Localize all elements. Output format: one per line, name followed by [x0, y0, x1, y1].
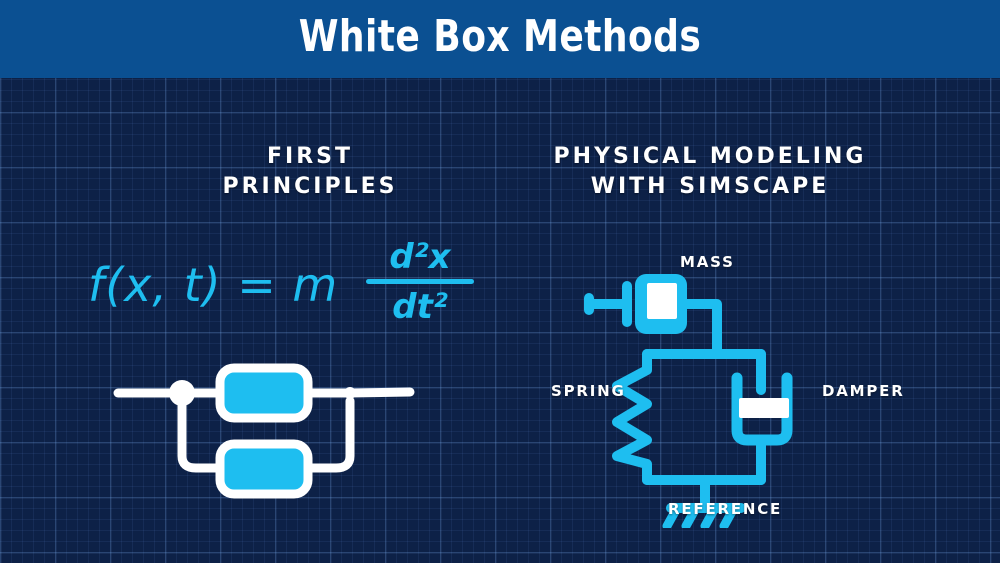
- circuit-node-right: [344, 387, 356, 399]
- mass-block-inner: [647, 283, 677, 319]
- label-spring: SPRING: [551, 382, 626, 400]
- circuit-diagram: [110, 352, 430, 512]
- label-damper: DAMPER: [822, 382, 905, 400]
- label-mass: MASS: [680, 253, 735, 271]
- equation-numerator: d²x: [360, 236, 480, 278]
- circuit-block-bottom: [220, 444, 308, 494]
- damper-piston: [739, 398, 789, 418]
- column-heading-line-2: PRINCIPLES: [130, 172, 490, 202]
- slide-canvas: White Box Methods FIRST PRINCIPLES PHYSI…: [0, 0, 1000, 563]
- label-reference: REFERENCE: [668, 500, 782, 518]
- slide-header: White Box Methods: [0, 0, 1000, 78]
- column-heading-first-principles: FIRST PRINCIPLES: [130, 142, 490, 202]
- wire-right-lead: [350, 392, 410, 393]
- equation-first-principles: f(x, t) = m d²x dt²: [88, 228, 488, 338]
- column-heading-line-2: WITH SIMSCAPE: [500, 172, 920, 202]
- equation-fraction: d²x dt²: [360, 236, 480, 328]
- column-heading-physical-modeling: PHYSICAL MODELING WITH SIMSCAPE: [500, 142, 920, 202]
- equation-denominator: dt²: [360, 286, 480, 328]
- circuit-block-top: [220, 368, 308, 418]
- page-title: White Box Methods: [90, 0, 910, 78]
- wire-right-branch: [306, 401, 350, 468]
- equation-fraction-bar: [366, 279, 474, 284]
- wire-mass-to-node: [683, 304, 717, 354]
- column-heading-line-1: PHYSICAL MODELING: [500, 142, 920, 172]
- column-heading-line-1: FIRST: [130, 142, 490, 172]
- spring-zigzag: [617, 354, 647, 480]
- circuit-node-left: [169, 380, 195, 406]
- equation-left-hand-side: f(x, t) = m: [88, 258, 338, 312]
